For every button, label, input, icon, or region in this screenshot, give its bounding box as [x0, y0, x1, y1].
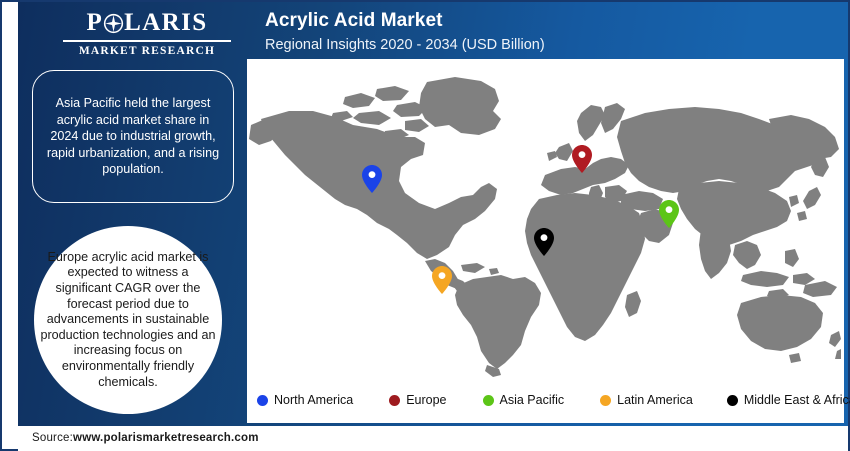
world-map-panel: North America Europe Asia Pacific Latin … [247, 59, 844, 423]
map-pin-middle-east-africa[interactable] [534, 228, 554, 256]
legend-label-north-america: North America [274, 393, 353, 407]
brand-name-part-1: P [86, 8, 103, 38]
brand-name: PLARIS [52, 8, 242, 38]
map-pin-europe[interactable] [572, 145, 592, 173]
legend-item-europe: Europe [389, 393, 446, 407]
page-title: Acrylic Acid Market [265, 10, 443, 32]
legend-label-asia-pacific: Asia Pacific [500, 393, 565, 407]
legend-dot-asia-pacific [483, 395, 494, 406]
logo-divider [63, 40, 231, 42]
legend-item-north-america: North America [257, 393, 353, 407]
infographic-root: PLARIS MARKET RESEARCH Acrylic Acid Mark… [0, 0, 850, 451]
footer-bar: Source:www.polarismarketresearch.com [18, 426, 848, 451]
world-map-graphic [249, 63, 841, 381]
map-pin-asia-pacific[interactable] [659, 200, 679, 228]
legend-item-asia-pacific: Asia Pacific [483, 393, 565, 407]
asia-pacific-callout-text: Asia Pacific held the largest acrylic ac… [44, 95, 222, 178]
legend-label-middle-east-africa: Middle East & Africa [744, 393, 850, 407]
legend-label-latin-america: Latin America [617, 393, 693, 407]
map-pin-north-america[interactable] [362, 165, 382, 193]
europe-callout: Europe acrylic acid market is expected t… [34, 226, 222, 414]
source-label: Source: [32, 432, 73, 444]
brand-name-part-2: LARIS [124, 8, 207, 38]
legend-dot-latin-america [600, 395, 611, 406]
compass-star-icon [103, 13, 124, 34]
brand-tagline: MARKET RESEARCH [52, 45, 242, 57]
legend-dot-europe [389, 395, 400, 406]
asia-pacific-callout: Asia Pacific held the largest acrylic ac… [32, 70, 234, 203]
brand-logo: PLARIS MARKET RESEARCH [52, 8, 242, 57]
legend-dot-middle-east-africa [727, 395, 738, 406]
source-attribution: Source:www.polarismarketresearch.com [32, 432, 259, 444]
legend-label-europe: Europe [406, 393, 446, 407]
legend-item-latin-america: Latin America [600, 393, 693, 407]
page-subtitle: Regional Insights 2020 - 2034 (USD Billi… [265, 37, 545, 53]
map-pin-latin-america[interactable] [432, 266, 452, 294]
source-url: www.polarismarketresearch.com [73, 432, 259, 444]
legend-dot-north-america [257, 395, 268, 406]
legend-item-middle-east-africa: Middle East & Africa [727, 393, 850, 407]
map-legend: North America Europe Asia Pacific Latin … [257, 389, 842, 411]
europe-callout-text: Europe acrylic acid market is expected t… [38, 250, 218, 390]
